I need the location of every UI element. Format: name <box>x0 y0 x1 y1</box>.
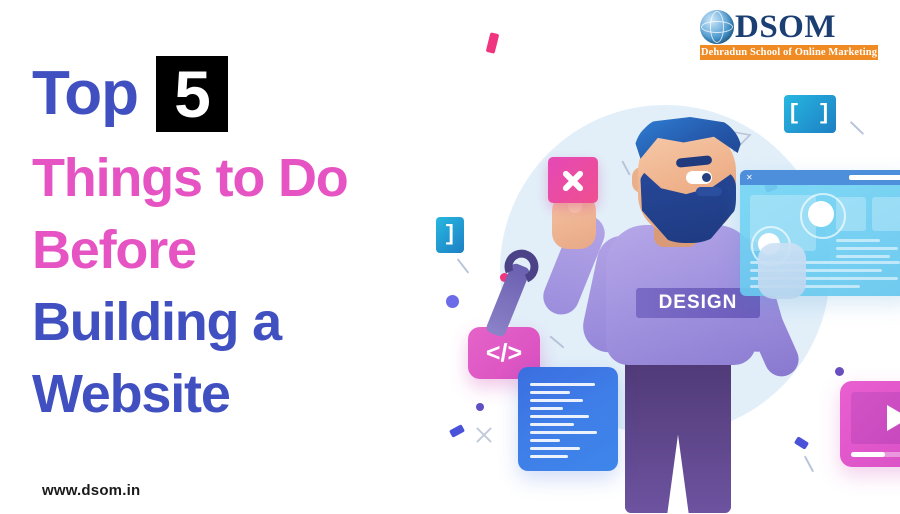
browser-titlebar: ✕ <box>740 170 900 185</box>
video-screen <box>851 392 900 444</box>
confetti-line <box>804 456 814 473</box>
confetti-rect <box>486 32 500 54</box>
close-icon[interactable] <box>548 157 598 203</box>
headline-title: Things to Do Before Building a Website <box>32 142 452 430</box>
headline-line-4: Website <box>32 358 452 430</box>
character-pupil <box>702 173 711 182</box>
code-editor-panel[interactable] <box>518 367 618 471</box>
headline-block: Top 5 Things to Do Before Building a Web… <box>32 58 452 430</box>
confetti-rect <box>449 424 465 438</box>
x-mark-decoration <box>474 425 494 445</box>
headline-line-2: Before <box>32 214 452 286</box>
video-player-panel[interactable] <box>840 381 900 467</box>
hero-illustration: DESIGN </> [ ] ] ✕ <box>440 95 900 514</box>
browser-close-icon[interactable]: ✕ <box>746 174 753 182</box>
browser-touch-ring <box>800 193 846 239</box>
logo-row: DSOM <box>700 10 878 44</box>
video-progress-bar[interactable] <box>851 452 900 457</box>
character-hand-right <box>758 243 806 299</box>
confetti-dot <box>476 403 484 411</box>
globe-icon <box>700 10 734 44</box>
headline-line-3: Building a <box>32 286 452 358</box>
bracket-icon[interactable]: [ ] <box>784 95 836 133</box>
confetti-line <box>457 258 470 273</box>
confetti-dot <box>446 295 459 308</box>
browser-card <box>872 197 900 231</box>
play-icon[interactable] <box>887 405 900 431</box>
browser-url-bar[interactable] <box>849 175 900 180</box>
confetti-line <box>850 121 864 135</box>
website-url[interactable]: www.dsom.in <box>42 482 140 499</box>
confetti-rect <box>794 436 809 450</box>
poster-canvas: DSOM Dehradun School of Online Marketing… <box>0 0 900 514</box>
headline-line-1: Things to Do <box>32 142 452 214</box>
headline-kicker-row: Top 5 <box>32 58 452 130</box>
character-mouth <box>696 187 722 196</box>
logo-tagline: Dehradun School of Online Marketing <box>700 45 878 60</box>
headline-kicker: Top <box>32 63 138 125</box>
confetti-dot <box>835 367 844 376</box>
dsom-logo[interactable]: DSOM Dehradun School of Online Marketing <box>700 10 878 62</box>
logo-wordmark: DSOM <box>735 11 836 44</box>
headline-number-badge: 5 <box>156 56 228 132</box>
bracket-left-icon[interactable]: ] <box>436 217 464 253</box>
